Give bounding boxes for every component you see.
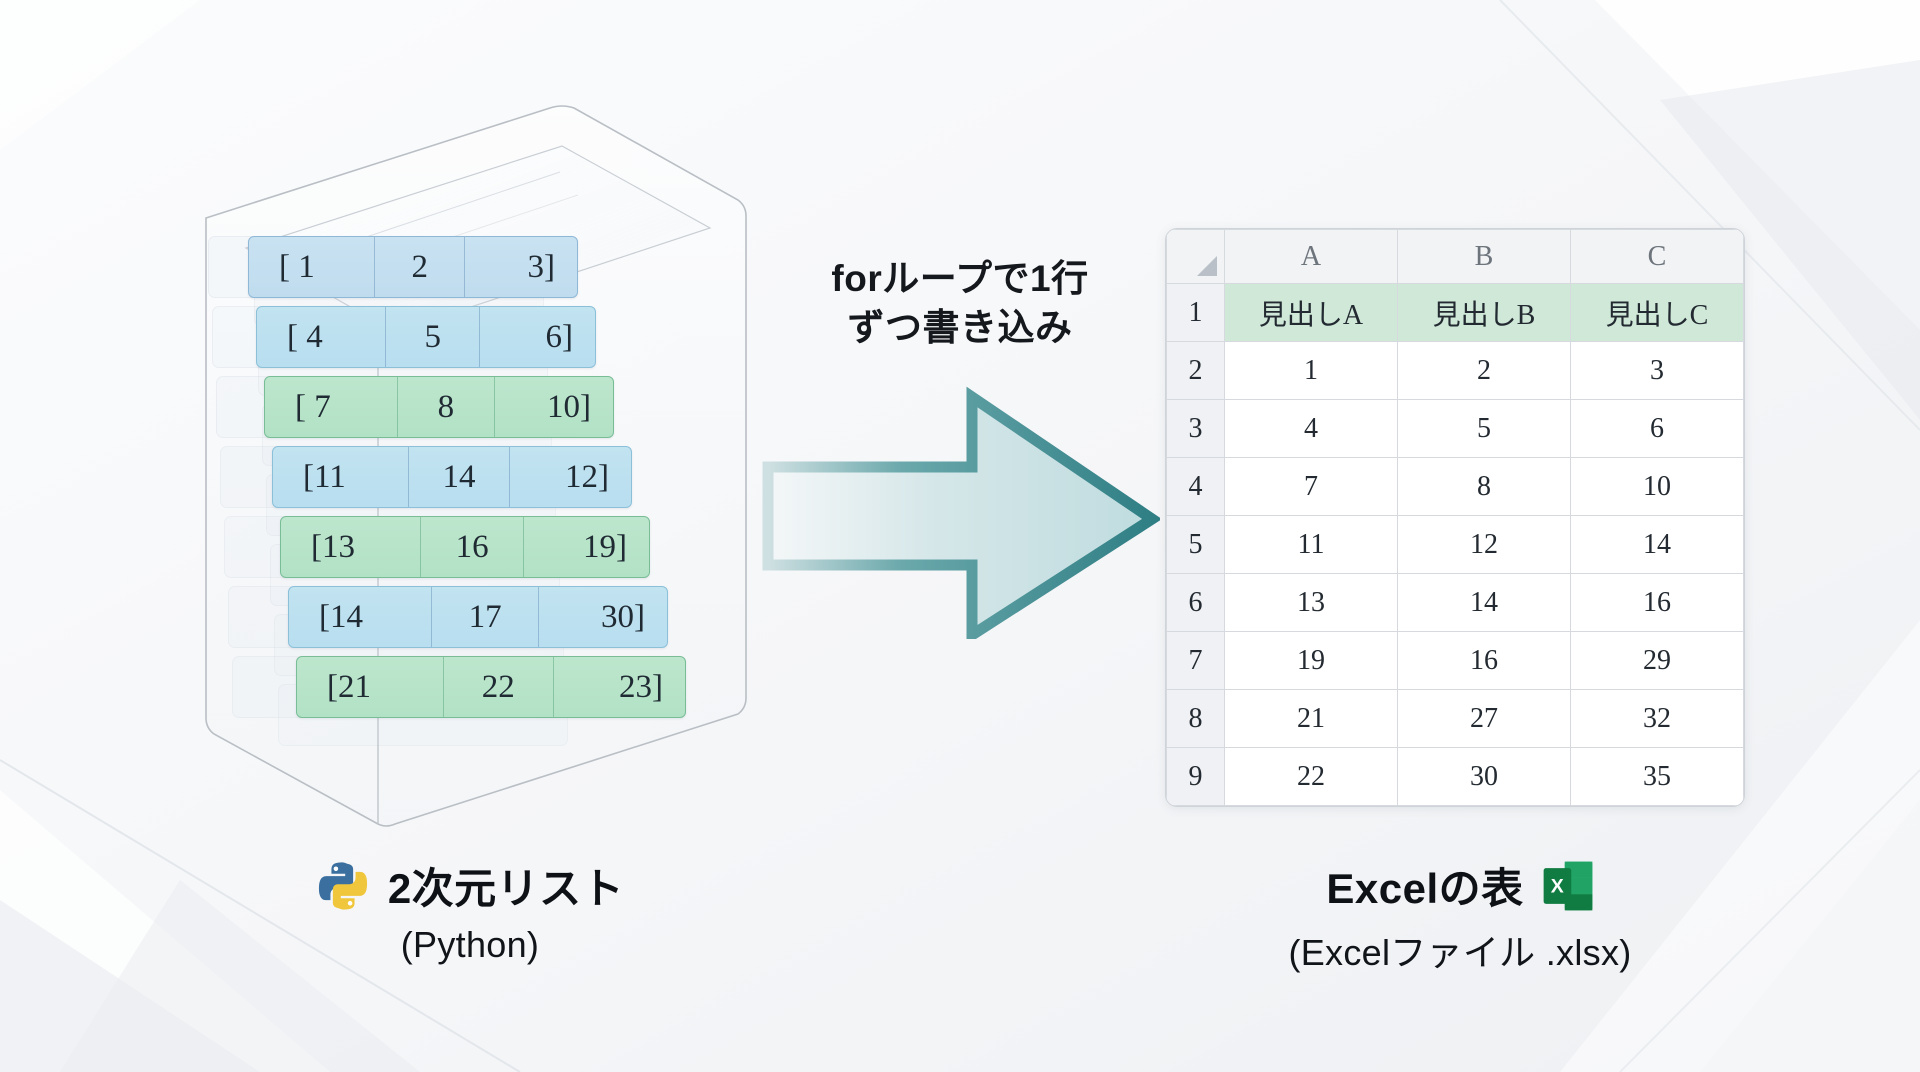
row-header[interactable]: 7	[1167, 632, 1225, 690]
table-row: 6131416	[1167, 574, 1744, 632]
list-cell: [ 7	[265, 377, 397, 437]
arrow-caption-line2: ずつ書き込み	[760, 304, 1160, 353]
list-cell: [14	[289, 587, 431, 647]
list-cell: 10]	[494, 377, 613, 437]
list-row: [ 456]	[256, 306, 596, 368]
data-cell[interactable]: 7	[1225, 458, 1398, 516]
data-cell[interactable]: 14	[1398, 574, 1571, 632]
data-cell[interactable]: 5	[1398, 400, 1571, 458]
row-header[interactable]: 6	[1167, 574, 1225, 632]
row-header[interactable]: 1	[1167, 284, 1225, 342]
row-header[interactable]: 3	[1167, 400, 1225, 458]
table-row: 3456	[1167, 400, 1744, 458]
spreadsheet-grid[interactable]: A B C 1見出しA見出しB見出しC212334564781051112146…	[1166, 229, 1744, 806]
list-cell: 23]	[553, 657, 685, 717]
table-row: 7191629	[1167, 632, 1744, 690]
list-cell: [21	[297, 657, 443, 717]
header-cell[interactable]: 見出しC	[1571, 284, 1744, 342]
list-cell: 8	[397, 377, 494, 437]
column-header-c[interactable]: C	[1571, 230, 1744, 284]
data-cell[interactable]: 19	[1225, 632, 1398, 690]
table-row: 2123	[1167, 342, 1744, 400]
list-row: [131619]	[280, 516, 650, 578]
data-cell[interactable]: 12	[1398, 516, 1571, 574]
data-cell[interactable]: 16	[1398, 632, 1571, 690]
row-header[interactable]: 2	[1167, 342, 1225, 400]
arrow-caption: forループで1行 ずつ書き込み	[760, 255, 1160, 353]
list-cell: [13	[281, 517, 420, 577]
data-cell[interactable]: 13	[1225, 574, 1398, 632]
data-cell[interactable]: 2	[1398, 342, 1571, 400]
row-header[interactable]: 9	[1167, 748, 1225, 806]
list-cell: 3]	[464, 237, 577, 297]
list-row: [111412]	[272, 446, 632, 508]
list-cell: 6]	[479, 307, 595, 367]
table-row: 5111214	[1167, 516, 1744, 574]
table-row: 1見出しA見出しB見出しC	[1167, 284, 1744, 342]
list-cell: 12]	[509, 447, 631, 507]
table-row: 47810	[1167, 458, 1744, 516]
data-cell[interactable]: 1	[1225, 342, 1398, 400]
list-cell: 14	[408, 447, 508, 507]
data-cell[interactable]: 8	[1398, 458, 1571, 516]
right-caption-main: Excelの表	[1326, 855, 1523, 916]
left-caption-main: 2次元リスト	[388, 855, 624, 916]
excel-logo-icon: X	[1542, 859, 1594, 913]
list-cell: 30]	[538, 587, 667, 647]
data-cell[interactable]: 14	[1571, 516, 1744, 574]
data-cell[interactable]: 29	[1571, 632, 1744, 690]
data-cell[interactable]: 35	[1571, 748, 1744, 806]
list-cell: 22	[443, 657, 553, 717]
python-list-visual: [ 123][ 456][ 7810][111412][131619][1417…	[190, 88, 750, 828]
list-row: [ 123]	[248, 236, 578, 298]
data-cell[interactable]: 11	[1225, 516, 1398, 574]
select-all-corner[interactable]	[1167, 230, 1225, 284]
column-header-a[interactable]: A	[1225, 230, 1398, 284]
right-caption-sub: (Excelファイル .xlsx)	[1150, 924, 1770, 976]
spreadsheet-body: 1見出しA見出しB見出しC212334564781051112146131416…	[1167, 284, 1744, 806]
corner-triangle-icon	[1197, 256, 1217, 276]
list-cell: 2	[374, 237, 465, 297]
list-cell: 16	[420, 517, 524, 577]
list-rows: [ 123][ 456][ 7810][111412][131619][1417…	[190, 88, 750, 828]
list-cell: 17	[431, 587, 538, 647]
data-cell[interactable]: 21	[1225, 690, 1398, 748]
svg-text:X: X	[1550, 875, 1563, 897]
transform-annotation: forループで1行 ずつ書き込み	[760, 255, 1160, 639]
data-cell[interactable]: 27	[1398, 690, 1571, 748]
arrow-caption-line1: forループで1行	[760, 255, 1160, 304]
data-cell[interactable]: 4	[1225, 400, 1398, 458]
list-cell: 5	[385, 307, 479, 367]
data-cell[interactable]: 32	[1571, 690, 1744, 748]
data-cell[interactable]: 22	[1225, 748, 1398, 806]
row-header[interactable]: 8	[1167, 690, 1225, 748]
list-row: [141730]	[288, 586, 668, 648]
table-row: 8212732	[1167, 690, 1744, 748]
list-row: [212223]	[296, 656, 686, 718]
right-caption: Excelの表 X (Excelファイル .xlsx)	[1150, 855, 1770, 976]
left-caption-sub: (Python)	[230, 924, 710, 966]
row-header[interactable]: 5	[1167, 516, 1225, 574]
excel-sheet[interactable]: A B C 1見出しA見出しB見出しC212334564781051112146…	[1165, 228, 1745, 807]
list-cell: 19]	[523, 517, 649, 577]
column-header-row: A B C	[1167, 230, 1744, 284]
right-arrow-icon	[760, 379, 1160, 639]
data-cell[interactable]: 10	[1571, 458, 1744, 516]
data-cell[interactable]: 6	[1571, 400, 1744, 458]
data-cell[interactable]: 3	[1571, 342, 1744, 400]
list-cell: [ 4	[257, 307, 385, 367]
left-caption: 2次元リスト (Python)	[230, 855, 710, 966]
list-cell: [11	[273, 447, 408, 507]
list-row: [ 7810]	[264, 376, 614, 438]
column-header-b[interactable]: B	[1398, 230, 1571, 284]
table-row: 9223035	[1167, 748, 1744, 806]
list-cell: [ 1	[249, 237, 374, 297]
data-cell[interactable]: 30	[1398, 748, 1571, 806]
header-cell[interactable]: 見出しA	[1225, 284, 1398, 342]
row-header[interactable]: 4	[1167, 458, 1225, 516]
python-logo-icon	[316, 859, 370, 913]
header-cell[interactable]: 見出しB	[1398, 284, 1571, 342]
data-cell[interactable]: 16	[1571, 574, 1744, 632]
